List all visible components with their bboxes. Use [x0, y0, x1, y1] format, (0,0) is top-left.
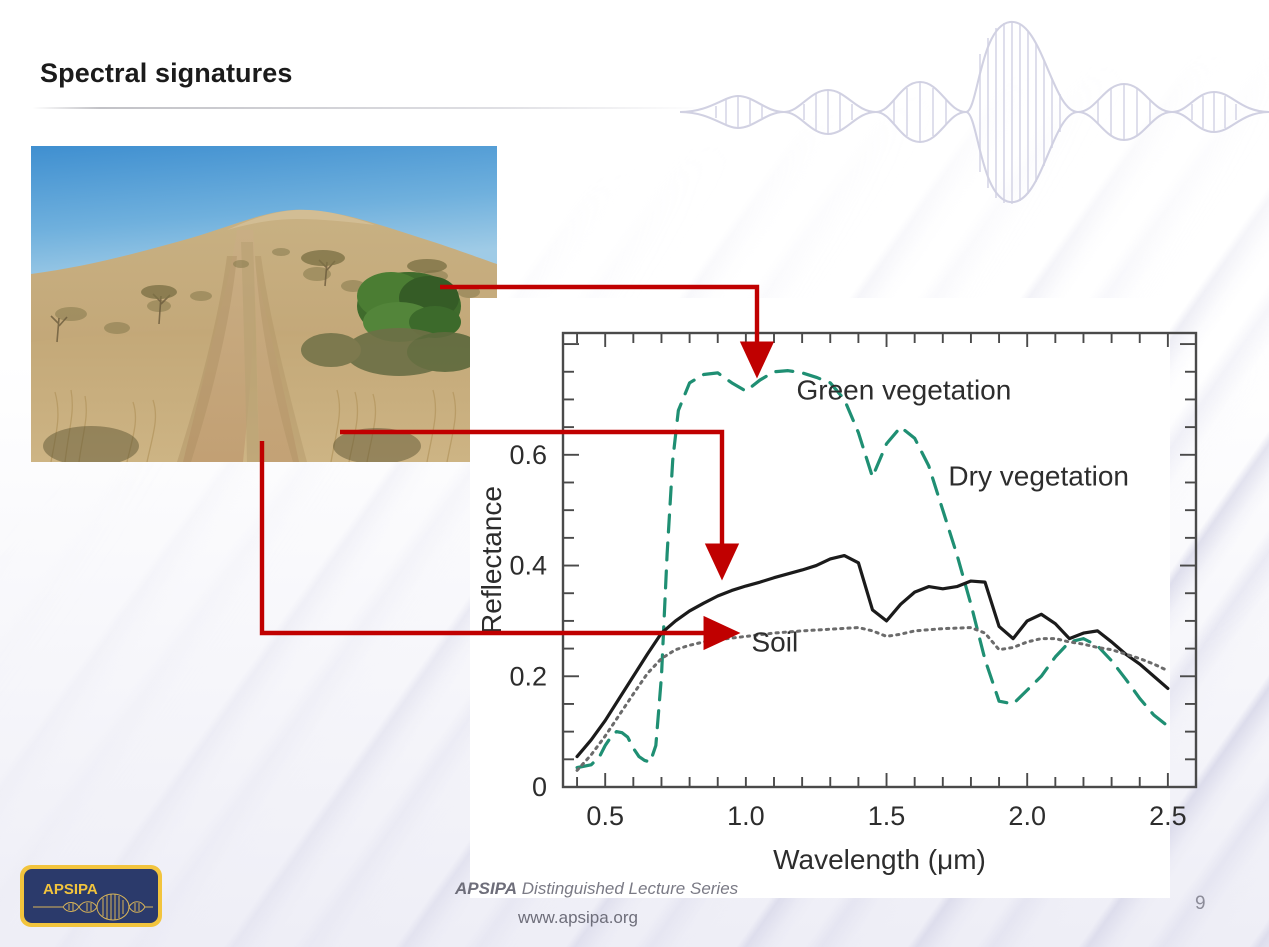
x-tick-label: 0.5 — [586, 801, 624, 831]
series-green-vegetation — [577, 371, 1168, 768]
x-tick-label: 1.0 — [727, 801, 765, 831]
x-axis-label: Wavelength (μm) — [773, 844, 986, 875]
chart-annotation: Dry vegetation — [948, 460, 1129, 491]
y-tick-label: 0 — [532, 772, 547, 802]
footer-series-text: APSIPA Distinguished Lecture Series — [455, 879, 738, 899]
series-soil — [577, 628, 1168, 771]
y-axis-label: Reflectance — [476, 486, 507, 634]
footer-url: www.apsipa.org — [518, 908, 638, 928]
y-tick-label: 0.4 — [509, 551, 547, 581]
page-title: Spectral signatures — [40, 58, 293, 89]
savanna-landscape-photo — [31, 146, 497, 462]
chart-annotation: Soil — [751, 626, 798, 657]
dna-helix-decoration-icon — [680, 14, 1269, 210]
y-tick-label: 0.2 — [509, 661, 547, 691]
y-tick-label: 0.6 — [509, 440, 547, 470]
apsipa-logo-text: APSIPA — [43, 881, 98, 898]
page-number: 9 — [1195, 893, 1206, 915]
footer-series: Distinguished Lecture Series — [517, 879, 738, 898]
spectral-reflectance-chart: 0.51.01.52.02.500.20.40.6Wavelength (μm)… — [455, 300, 1215, 900]
apsipa-logo: APSIPA — [17, 862, 165, 930]
x-tick-label: 2.5 — [1149, 801, 1187, 831]
footer-brand: APSIPA — [455, 879, 517, 898]
title-divider — [32, 107, 704, 109]
x-tick-label: 1.5 — [868, 801, 906, 831]
slide-canvas: Spectral signatures — [0, 0, 1269, 947]
x-tick-label: 2.0 — [1008, 801, 1046, 831]
chart-annotation: Green vegetation — [797, 374, 1012, 405]
